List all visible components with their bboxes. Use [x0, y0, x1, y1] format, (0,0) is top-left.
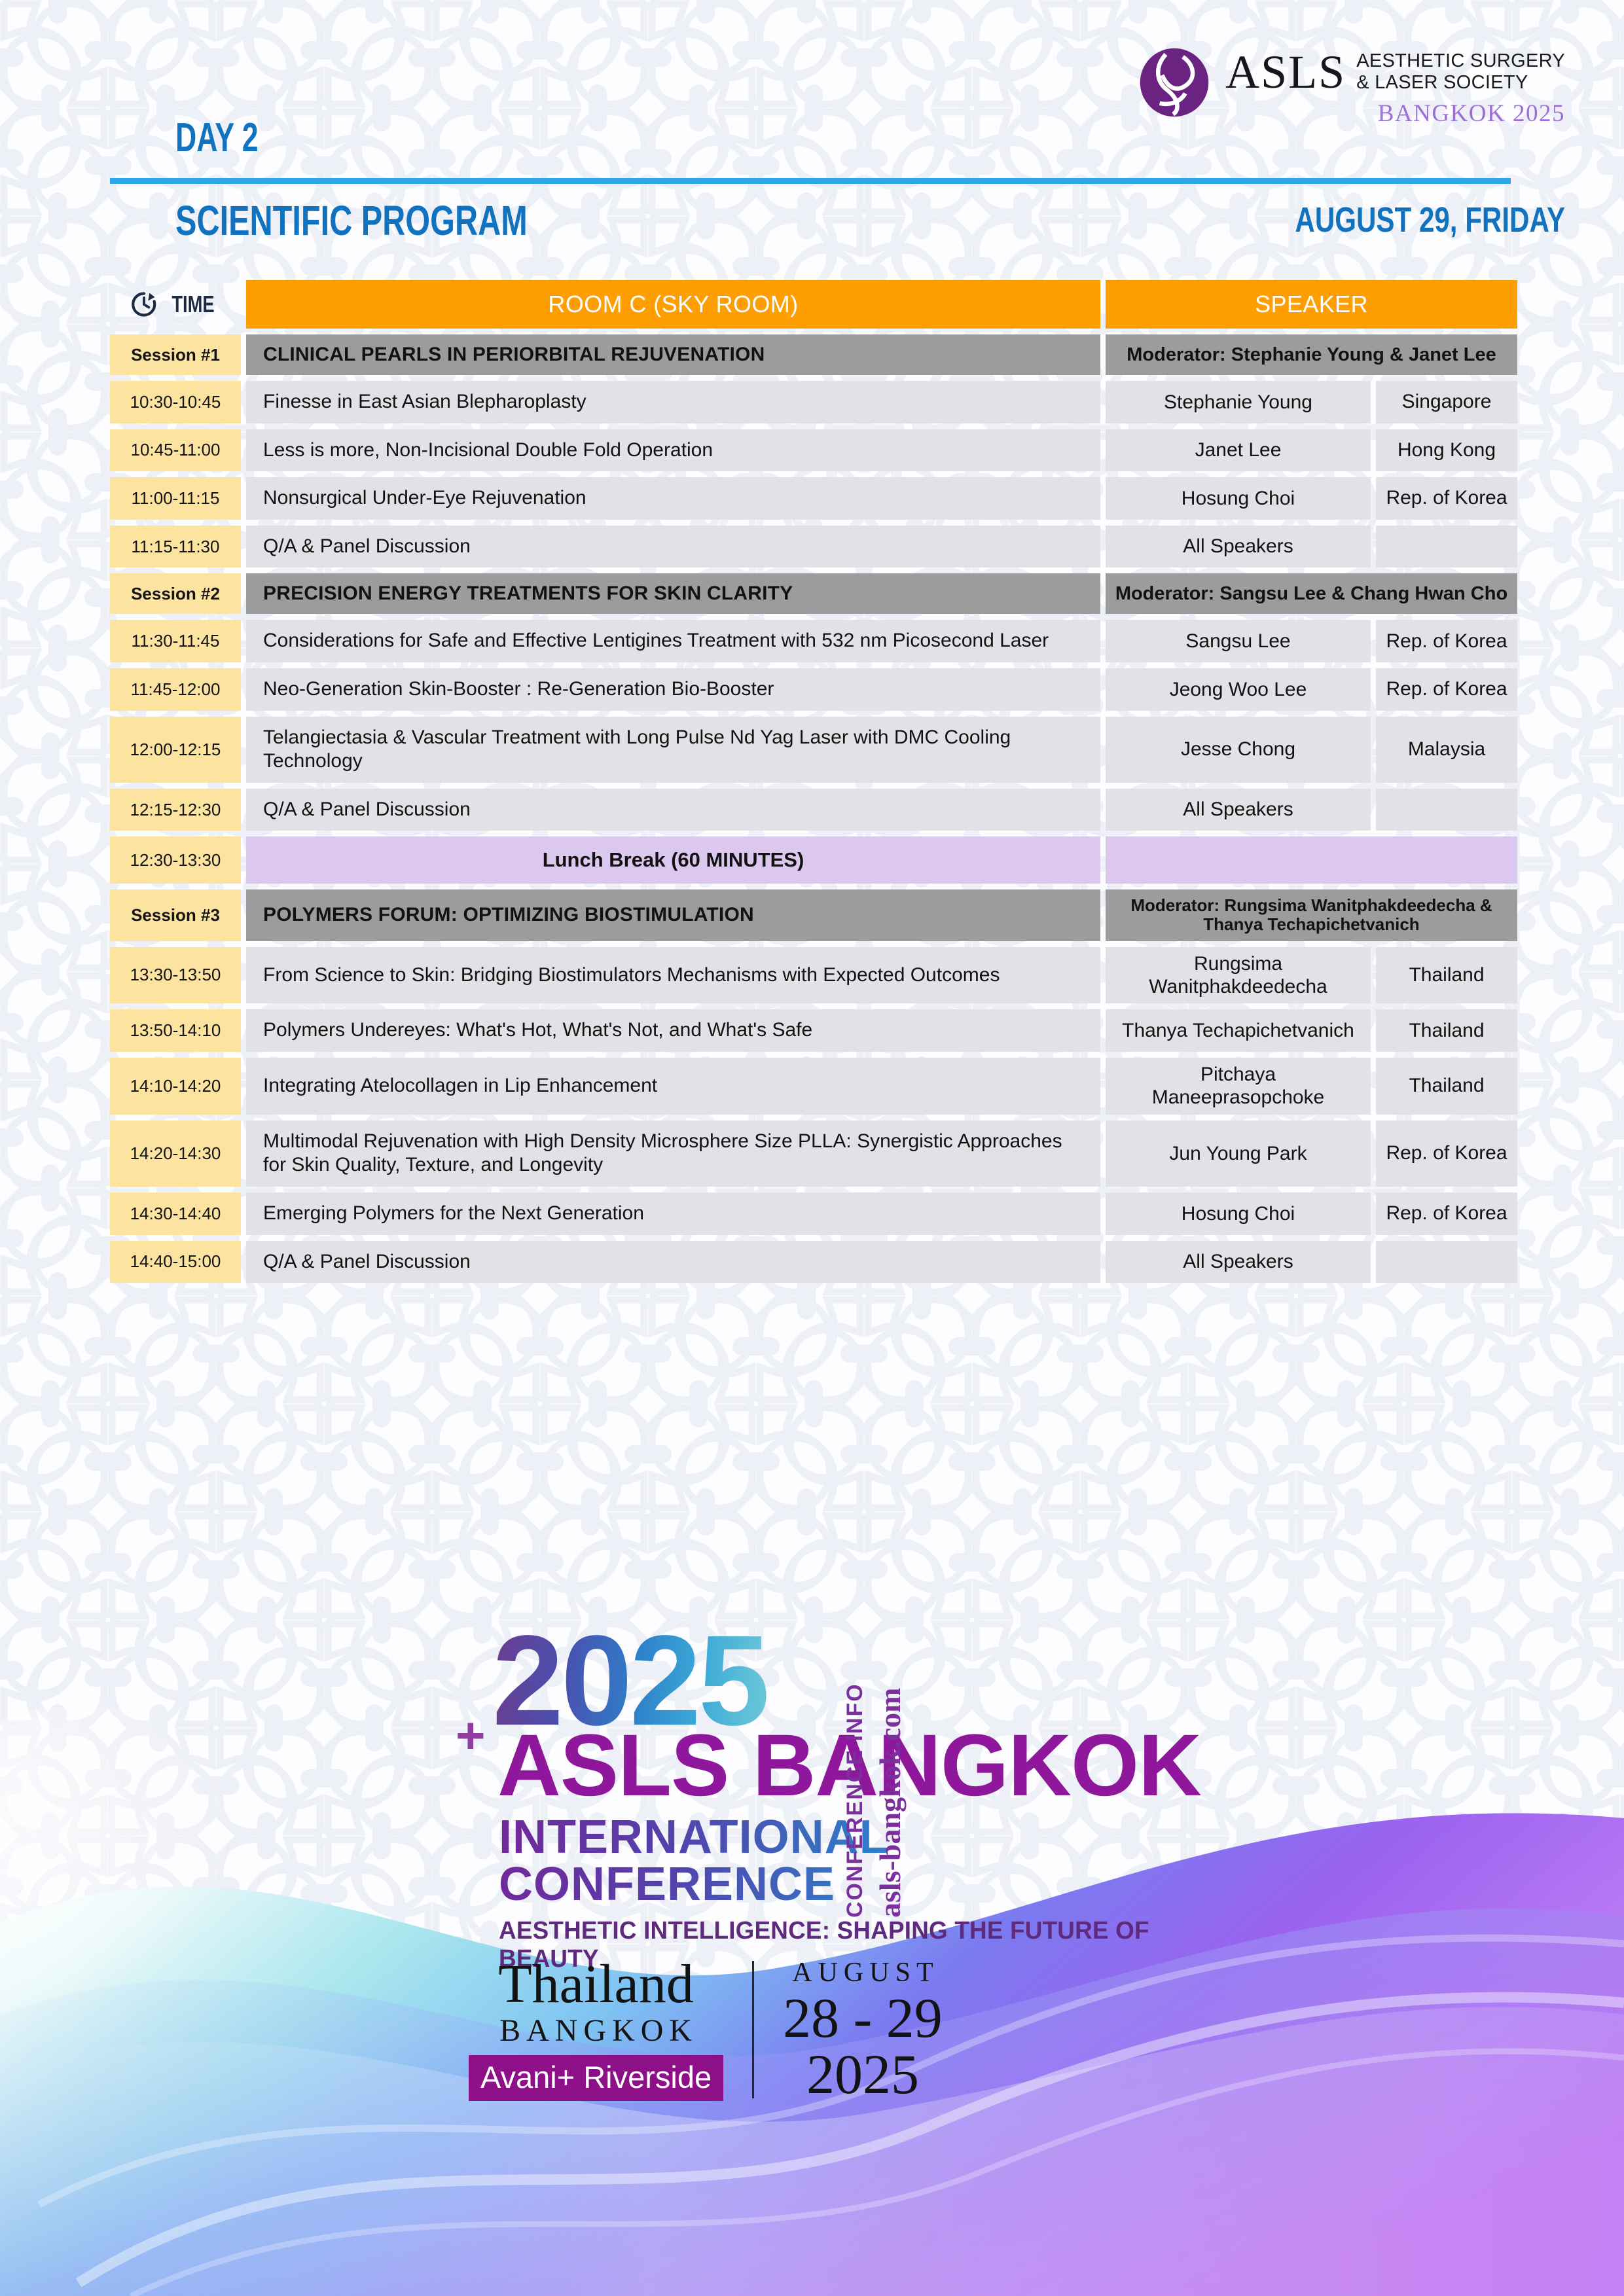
row-country	[1376, 526, 1517, 568]
row-time: 14:20-14:30	[110, 1121, 241, 1187]
row-speaker: Pitchaya Maneeprasopchoke	[1106, 1058, 1371, 1115]
session-tag: Session #2	[110, 573, 241, 614]
row-topic: Q/A & Panel Discussion	[246, 1241, 1100, 1283]
row-time: 14:10-14:20	[110, 1058, 241, 1115]
session-tag: Session #3	[110, 889, 241, 941]
row-speaker: All Speakers	[1106, 1241, 1371, 1283]
row-country	[1376, 789, 1517, 831]
venue-date-block: Thailand BANGKOK Avani+ Riverside AUGUST…	[469, 1957, 943, 2102]
session-header-row: Session #2 PRECISION ENERGY TREATMENTS F…	[110, 573, 1512, 614]
row-country: Rep. of Korea	[1376, 1121, 1517, 1187]
row-time: 12:30-13:30	[110, 836, 241, 884]
row-country: Rep. of Korea	[1376, 1193, 1517, 1235]
header-divider	[110, 178, 1511, 184]
row-time: 14:30-14:40	[110, 1193, 241, 1235]
page-header: ASLS AESTHETIC SURGERY & LASER SOCIETY B…	[0, 0, 1624, 262]
table-row: 12:00-12:15 Telangiectasia & Vascular Tr…	[110, 717, 1512, 783]
logo-edition: BANGKOK 2025	[1225, 99, 1565, 128]
row-topic: Nonsurgical Under-Eye Rejuvenation	[246, 477, 1100, 520]
table-row: 14:30-14:40 Emerging Polymers for the Ne…	[110, 1193, 1512, 1235]
row-country: Thailand	[1376, 1009, 1517, 1052]
row-topic: Less is more, Non-Incisional Double Fold…	[246, 429, 1100, 472]
row-time: 10:30-10:45	[110, 381, 241, 423]
column-header-time: TIME	[110, 280, 241, 329]
conference-info-label: CONFERENCE INFO	[842, 1683, 868, 1918]
logo-acronym: ASLS	[1225, 50, 1346, 94]
break-label: Lunch Break (60 MINUTES)	[246, 836, 1100, 884]
table-row: 13:30-13:50 From Science to Skin: Bridgi…	[110, 947, 1512, 1004]
row-speaker: Jun Young Park	[1106, 1121, 1371, 1187]
row-time: 14:40-15:00	[110, 1241, 241, 1283]
row-time: 11:15-11:30	[110, 526, 241, 568]
row-topic: Q/A & Panel Discussion	[246, 526, 1100, 568]
page-title: SCIENTIFIC PROGRAM	[175, 196, 528, 245]
row-topic: Finesse in East Asian Blepharoplasty	[246, 381, 1100, 423]
asls-logo: ASLS AESTHETIC SURGERY & LASER SOCIETY B…	[1138, 46, 1565, 128]
clock-icon	[130, 290, 158, 319]
row-time: 13:50-14:10	[110, 1009, 241, 1052]
conference-info: CONFERENCE INFO asls-bangkok.com	[830, 1610, 954, 1918]
schedule-table: TIME ROOM C (SKY ROOM) SPEAKER Session #…	[110, 280, 1512, 1289]
session-moderator: Moderator: Rungsima Wanitphakdeedecha & …	[1106, 889, 1517, 941]
column-header-room: ROOM C (SKY ROOM)	[246, 280, 1100, 329]
event-date: AUGUST 28 - 29 2025	[783, 1957, 943, 2102]
break-speaker-blank	[1106, 836, 1517, 884]
row-country: Rep. of Korea	[1376, 620, 1517, 662]
row-speaker: All Speakers	[1106, 526, 1371, 568]
row-topic: Q/A & Panel Discussion	[246, 789, 1100, 831]
event-year: 2025	[783, 2046, 943, 2102]
session-title: POLYMERS FORUM: OPTIMIZING BIOSTIMULATIO…	[246, 889, 1100, 941]
venue-info: Thailand BANGKOK Avani+ Riverside	[469, 1958, 723, 2101]
table-row: 14:40-15:00 Q/A & Panel Discussion All S…	[110, 1241, 1512, 1283]
row-country	[1376, 1241, 1517, 1283]
table-row: 12:15-12:30 Q/A & Panel Discussion All S…	[110, 789, 1512, 831]
day-label: DAY 2	[175, 115, 259, 161]
row-time: 12:15-12:30	[110, 789, 241, 831]
program-page: ASLS AESTHETIC SURGERY & LASER SOCIETY B…	[0, 0, 1624, 2296]
logo-subtitle: AESTHETIC SURGERY & LASER SOCIETY	[1356, 50, 1565, 94]
table-row: 11:45-12:00 Neo-Generation Skin-Booster …	[110, 668, 1512, 711]
row-speaker: Hosung Choi	[1106, 477, 1371, 520]
table-row: 11:00-11:15 Nonsurgical Under-Eye Rejuve…	[110, 477, 1512, 520]
row-time: 11:00-11:15	[110, 477, 241, 520]
row-topic: Integrating Atelocollagen in Lip Enhance…	[246, 1058, 1100, 1115]
session-title: CLINICAL PEARLS IN PERIORBITAL REJUVENAT…	[246, 334, 1100, 375]
row-country: Thailand	[1376, 947, 1517, 1004]
row-speaker: Rungsima Wanitphakdeedecha	[1106, 947, 1371, 1004]
row-topic: From Science to Skin: Bridging Biostimul…	[246, 947, 1100, 1004]
row-time: 12:00-12:15	[110, 717, 241, 783]
session-tag: Session #1	[110, 334, 241, 375]
table-row: 13:50-14:10 Polymers Undereyes: What's H…	[110, 1009, 1512, 1052]
asls-emblem-icon	[1138, 46, 1211, 119]
row-speaker: Thanya Techapichetvanich	[1106, 1009, 1371, 1052]
row-topic: Emerging Polymers for the Next Generatio…	[246, 1193, 1100, 1235]
venue-country: Thailand	[469, 1958, 723, 2011]
table-row: 11:15-11:30 Q/A & Panel Discussion All S…	[110, 526, 1512, 568]
row-speaker: Sangsu Lee	[1106, 620, 1371, 662]
row-speaker: Hosung Choi	[1106, 1193, 1371, 1235]
row-country: Thailand	[1376, 1058, 1517, 1115]
table-row: 14:10-14:20 Integrating Atelocollagen in…	[110, 1058, 1512, 1115]
session-moderator: Moderator: Stephanie Young & Janet Lee	[1106, 334, 1517, 375]
row-topic: Neo-Generation Skin-Booster : Re-Generat…	[246, 668, 1100, 711]
row-speaker: Stephanie Young	[1106, 381, 1371, 423]
column-header-time-label: TIME	[171, 291, 214, 318]
row-speaker: All Speakers	[1106, 789, 1371, 831]
row-speaker: Jesse Chong	[1106, 717, 1371, 783]
table-row: 10:45-11:00 Less is more, Non-Incisional…	[110, 429, 1512, 472]
table-row: 11:30-11:45 Considerations for Safe and …	[110, 620, 1512, 662]
brand-plus-mark: +	[456, 1710, 486, 1761]
row-time: 11:45-12:00	[110, 668, 241, 711]
venue-hotel: Avani+ Riverside	[469, 2055, 723, 2101]
row-topic: Multimodal Rejuvenation with High Densit…	[246, 1121, 1100, 1187]
table-row: 14:20-14:30 Multimodal Rejuvenation with…	[110, 1121, 1512, 1187]
row-country: Hong Kong	[1376, 429, 1517, 472]
event-days: 28 - 29	[783, 1990, 943, 2046]
row-country: Malaysia	[1376, 717, 1517, 783]
break-row: 12:30-13:30 Lunch Break (60 MINUTES)	[110, 836, 1512, 884]
row-country: Rep. of Korea	[1376, 668, 1517, 711]
session-header-row: Session #1 CLINICAL PEARLS IN PERIORBITA…	[110, 334, 1512, 375]
row-topic: Polymers Undereyes: What's Hot, What's N…	[246, 1009, 1100, 1052]
session-header-row: Session #3 POLYMERS FORUM: OPTIMIZING BI…	[110, 889, 1512, 941]
row-country: Singapore	[1376, 381, 1517, 423]
row-topic: Considerations for Safe and Effective Le…	[246, 620, 1100, 662]
row-time: 10:45-11:00	[110, 429, 241, 472]
row-speaker: Janet Lee	[1106, 429, 1371, 472]
logo-subtitle-line2: & LASER SOCIETY	[1356, 72, 1528, 93]
column-header-speaker: SPEAKER	[1106, 280, 1517, 329]
session-moderator: Moderator: Sangsu Lee & Chang Hwan Cho	[1106, 573, 1517, 614]
row-time: 13:30-13:50	[110, 947, 241, 1004]
venue-divider	[752, 1961, 754, 2098]
row-time: 11:30-11:45	[110, 620, 241, 662]
row-country: Rep. of Korea	[1376, 477, 1517, 520]
row-topic: Telangiectasia & Vascular Treatment with…	[246, 717, 1100, 783]
conference-info-url[interactable]: asls-bangkok.com	[873, 1688, 907, 1918]
event-month: AUGUST	[789, 1957, 943, 1988]
table-row: 10:30-10:45 Finesse in East Asian Blepha…	[110, 381, 1512, 423]
venue-city: BANGKOK	[474, 2013, 723, 2049]
session-title: PRECISION ENERGY TREATMENTS FOR SKIN CLA…	[246, 573, 1100, 614]
logo-subtitle-line1: AESTHETIC SURGERY	[1356, 50, 1565, 71]
row-speaker: Jeong Woo Lee	[1106, 668, 1371, 711]
table-header-row: TIME ROOM C (SKY ROOM) SPEAKER	[110, 280, 1512, 329]
program-date: AUGUST 29, FRIDAY	[1295, 200, 1565, 240]
